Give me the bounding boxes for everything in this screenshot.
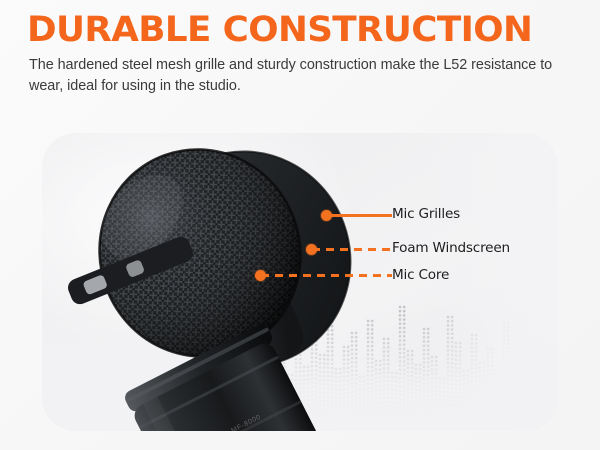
callout-line-mic-core	[261, 274, 392, 277]
callout-line-mic-grilles	[327, 214, 392, 217]
product-feature-slide: DURABLE CONSTRUCTION The hardened steel …	[0, 0, 600, 450]
header: DURABLE CONSTRUCTION The hardened steel …	[27, 10, 575, 97]
microphone-photo: MF-8000	[50, 133, 390, 431]
page-subtitle: The hardened steel mesh grille and sturd…	[29, 55, 559, 97]
product-image-card: MF-8000	[42, 133, 558, 431]
callout-label-mic-grilles: Mic Grilles	[392, 206, 460, 222]
page-title: DURABLE CONSTRUCTION	[27, 10, 586, 50]
callout-line-foam-windscreen	[312, 248, 392, 251]
callout-label-mic-core: Mic Core	[392, 267, 449, 283]
callout-label-foam-windscreen: Foam Windscreen	[392, 240, 510, 256]
